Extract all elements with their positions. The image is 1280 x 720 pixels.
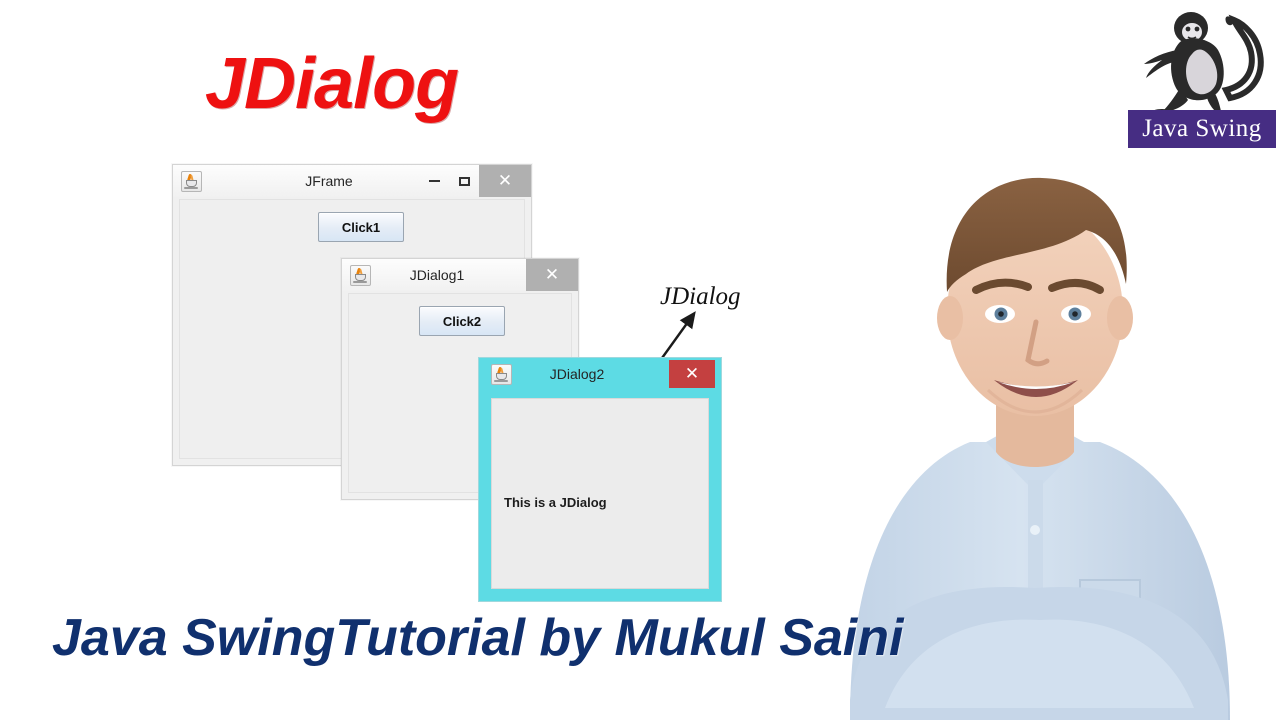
jframe-titlebar[interactable]: JFrame ✕ [173,165,531,197]
java-cup-icon [350,265,371,286]
click2-button[interactable]: Click2 [419,306,505,336]
jdialog2-window-controls: ✕ [669,358,721,390]
jdialog2-titlebar[interactable]: JDialog2 ✕ [479,358,721,390]
maximize-button[interactable] [449,165,479,197]
click1-button[interactable]: Click1 [318,212,404,242]
jdialog2-content-pane: This is a JDialog [491,398,709,589]
jdialog2-body-text: This is a JDialog [504,495,607,510]
java-cup-icon [491,364,512,385]
footer-title: Java SwingTutorial by Mukul Saini [52,608,903,668]
close-button[interactable]: ✕ [526,259,578,291]
minimize-button[interactable] [419,165,449,197]
jdialog1-titlebar[interactable]: JDialog1 ✕ [342,259,578,291]
jdialog1-window-controls: ✕ [526,259,578,291]
slide-canvas: JDialog JFrame ✕ Click1 [0,0,1280,720]
window-jdialog2[interactable]: JDialog2 ✕ This is a JDialog [478,357,722,602]
jframe-window-controls: ✕ [419,165,531,197]
close-button[interactable]: ✕ [479,165,531,197]
page-title: JDialog [205,48,458,120]
java-cup-icon [181,171,202,192]
close-button[interactable]: ✕ [669,360,715,388]
